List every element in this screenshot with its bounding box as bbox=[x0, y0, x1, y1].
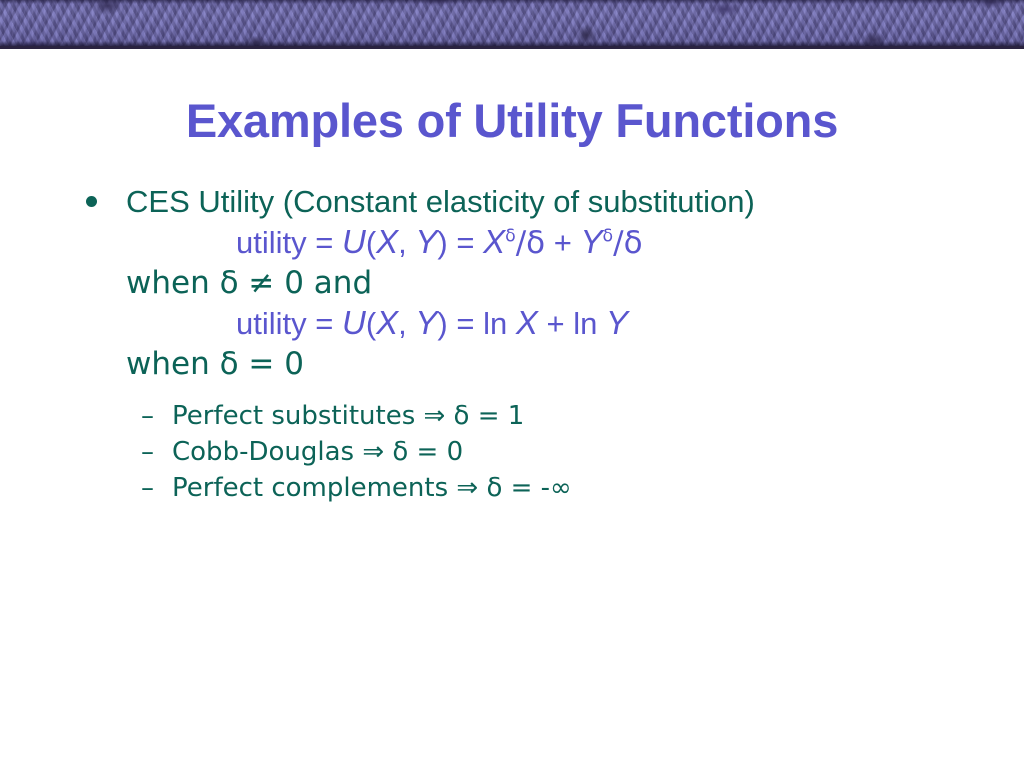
sub-bullet-text-perfect-substitutes: Perfect substitutes ⇒ δ = 1 bbox=[172, 401, 524, 431]
header-texture-band bbox=[0, 0, 1024, 49]
formula2-ln-arg-x: X bbox=[516, 304, 538, 341]
formula2-ln-1: ln bbox=[483, 306, 516, 341]
formula2-paren-open: ( bbox=[366, 306, 376, 341]
formula2-comma: , bbox=[398, 306, 415, 341]
formula-term2-base: Y bbox=[581, 223, 603, 260]
texture-top-shadow bbox=[0, 0, 1024, 4]
formula-arg-x: X bbox=[376, 223, 398, 260]
formula2-ln-2: ln bbox=[573, 306, 606, 341]
formula-term1-divisor: /δ bbox=[516, 225, 545, 261]
formula-equals-2: = bbox=[448, 225, 483, 260]
bullet-dot-icon bbox=[86, 196, 97, 207]
slide-body: CES Utility (Constant elasticity of subs… bbox=[0, 182, 1024, 506]
formula2-function-symbol: U bbox=[342, 304, 366, 341]
formula2-equals-1: = bbox=[307, 306, 342, 341]
texture-bottom-shadow bbox=[0, 41, 1024, 46]
formula-term2-exponent: δ bbox=[603, 227, 614, 247]
sub-bullet-text-cobb-douglas: Cobb-Douglas ⇒ δ = 0 bbox=[172, 437, 463, 467]
formula2-plus: + bbox=[538, 306, 573, 341]
sub-bullet-text-perfect-complements: Perfect complements ⇒ δ = -∞ bbox=[172, 473, 572, 503]
formula2-paren-close: ) bbox=[437, 306, 447, 341]
formula-equals-1: = bbox=[307, 225, 342, 260]
condition-delta-nonzero: when δ ≠ 0 and bbox=[0, 263, 1024, 303]
formula-function-symbol: U bbox=[342, 223, 366, 260]
sub-bullet-dash-icon: – bbox=[141, 434, 154, 470]
formula2-equals-2: = bbox=[448, 306, 483, 341]
formula2-ln-arg-y: Y bbox=[606, 304, 628, 341]
formula-paren-close: ) bbox=[437, 225, 447, 260]
sub-bullet-perfect-complements: – Perfect complements ⇒ δ = -∞ bbox=[0, 470, 1024, 506]
formula-ces-log-form: utility = U(X, Y) = ln X + ln Y bbox=[0, 303, 1024, 344]
formula2-lead: utility bbox=[236, 306, 307, 341]
formula-plus: + bbox=[545, 225, 580, 260]
sub-bullet-perfect-substitutes: – Perfect substitutes ⇒ δ = 1 bbox=[0, 398, 1024, 434]
formula-term1-base: X bbox=[483, 223, 505, 260]
formula-arg-y: Y bbox=[415, 223, 437, 260]
formula-comma: , bbox=[398, 225, 415, 260]
formula-term1-exponent: δ bbox=[505, 227, 516, 247]
formula-paren-open: ( bbox=[366, 225, 376, 260]
formula-ces-power-form: utility = U(X, Y) = Xδ/δ + Yδ/δ bbox=[0, 222, 1024, 263]
bullet-text-ces-utility: CES Utility (Constant elasticity of subs… bbox=[126, 184, 755, 219]
formula2-arg-y: Y bbox=[415, 304, 437, 341]
formula2-arg-x: X bbox=[376, 304, 398, 341]
formula-lead: utility bbox=[236, 225, 307, 260]
slide-title: Examples of Utility Functions bbox=[0, 96, 1024, 145]
formula-term2-divisor: /δ bbox=[613, 225, 642, 261]
bullet-item-ces-utility: CES Utility (Constant elasticity of subs… bbox=[0, 182, 946, 222]
sub-bullet-dash-icon: – bbox=[141, 470, 154, 506]
sub-bullet-cobb-douglas: – Cobb-Douglas ⇒ δ = 0 bbox=[0, 434, 1024, 470]
sub-bullet-dash-icon: – bbox=[141, 398, 154, 434]
condition-delta-zero: when δ = 0 bbox=[0, 344, 1024, 384]
